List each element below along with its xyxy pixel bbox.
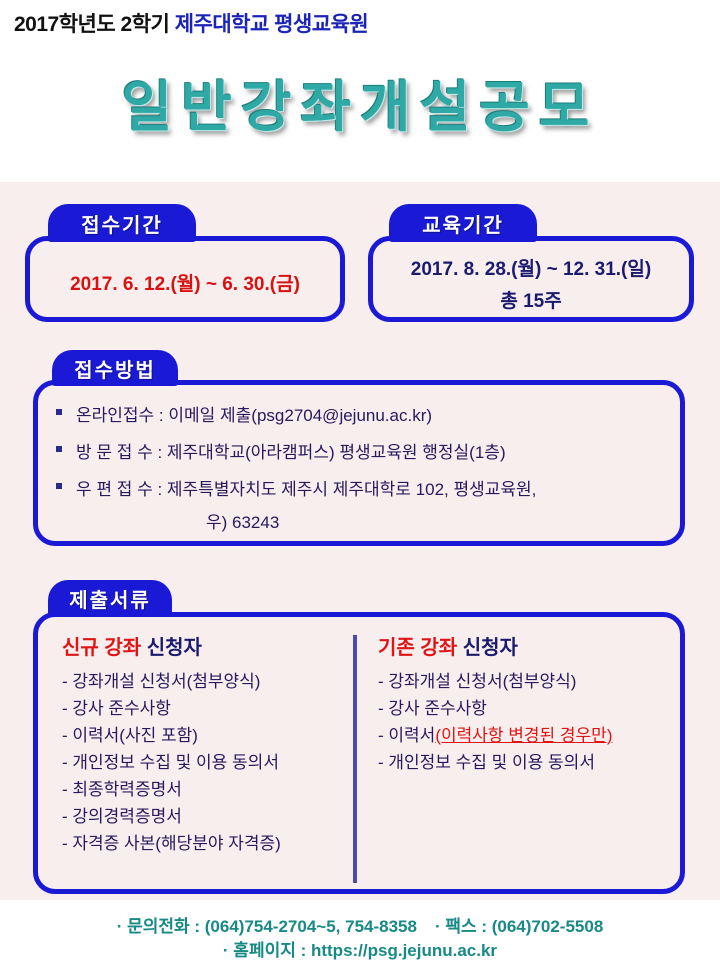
docs-heading-rest: 신청자	[457, 637, 518, 659]
list-item: 온라인접수 : 이메일 제출(psg2704@jejunu.ac.kr)	[56, 401, 536, 426]
header-line: 2017학년도 2학기 제주대학교 평생교육원	[14, 8, 368, 38]
panel-apply-period: 2017. 6. 12.(월) ~ 6. 30.(금)	[25, 236, 345, 322]
list-item: - 강의경력증명서	[62, 803, 352, 830]
tab-apply-period: 접수기간	[48, 204, 196, 242]
method-item-label: 온라인접수 : 이메일 제출(psg2704@jejunu.ac.kr)	[76, 401, 432, 426]
square-bullet-icon	[56, 409, 62, 415]
docs-column-new: 신규 강좌 신청자 - 강좌개설 신청서(첨부양식) - 강사 준수사항 - 이…	[62, 631, 352, 857]
poster-root: 2017학년도 2학기 제주대학교 평생교육원 일반강좌개설공모 접수기간 20…	[0, 0, 720, 960]
list-item: - 이력서(사진 포함)	[62, 722, 352, 749]
list-item: - 최종학력증명서	[62, 776, 352, 803]
list-item: 방 문 접 수 : 제주대학교(아라캠퍼스) 평생교육원 행정실(1층)	[56, 438, 536, 463]
square-bullet-icon	[56, 483, 62, 489]
list-item: - 강사 준수사항	[378, 695, 678, 722]
resume-condition-note: (이력사항 변경된 경우만)	[435, 726, 612, 745]
header-term: 2017학년도 2학기	[14, 13, 169, 36]
list-item: - 강사 준수사항	[62, 695, 352, 722]
tab-edu-period: 교육기간	[389, 204, 537, 242]
docs-list-existing: - 강좌개설 신청서(첨부양식) - 강사 준수사항 - 이력서(이력사항 변경…	[378, 668, 678, 776]
square-bullet-icon	[56, 446, 62, 452]
docs-column-existing: 기존 강좌 신청자 - 강좌개설 신청서(첨부양식) - 강사 준수사항 - 이…	[378, 631, 678, 776]
tab-application-method: 접수방법	[52, 350, 178, 386]
list-item-resume: - 이력서(이력사항 변경된 경우만)	[378, 722, 678, 749]
page-title: 일반강좌개설공모	[0, 62, 720, 142]
docs-heading-new: 신규 강좌 신청자	[62, 631, 352, 660]
panel-edu-period: 2017. 8. 28.(월) ~ 12. 31.(일) 총 15주	[368, 236, 694, 322]
edu-period-value: 2017. 8. 28.(월) ~ 12. 31.(일)	[373, 254, 689, 281]
tab-required-documents: 제출서류	[48, 580, 172, 617]
method-item-label: 방 문 접 수 : 제주대학교(아라캠퍼스) 평생교육원 행정실(1층)	[76, 438, 506, 463]
footer-contact-line: · 문의전화 : (064)754-2704~5, 754-8358· 팩스 :…	[0, 912, 720, 937]
list-item: - 강좌개설 신청서(첨부양식)	[378, 668, 678, 695]
method-item-label: 우 편 접 수 : 제주특별자치도 제주시 제주대학로 102, 평생교육원,	[76, 475, 536, 500]
list-item: - 자격증 사본(해당분야 자격증)	[62, 830, 352, 857]
header-institution: 제주대학교 평생교육원	[175, 13, 369, 36]
footer-fax: · 팩스 : (064)702-5508	[435, 917, 603, 936]
resume-label: - 이력서	[378, 726, 435, 745]
list-item: - 개인정보 수집 및 이용 동의서	[378, 749, 678, 776]
list-item: 우 편 접 수 : 제주특별자치도 제주시 제주대학로 102, 평생교육원,	[56, 475, 536, 500]
panel-required-documents: 신규 강좌 신청자 - 강좌개설 신청서(첨부양식) - 강사 준수사항 - 이…	[33, 612, 685, 894]
docs-heading-highlight: 신규 강좌	[62, 637, 141, 659]
edu-period-total: 총 15주	[373, 286, 689, 313]
list-item: - 강좌개설 신청서(첨부양식)	[62, 668, 352, 695]
docs-heading-rest: 신청자	[141, 637, 202, 659]
list-item: - 개인정보 수집 및 이용 동의서	[62, 749, 352, 776]
docs-heading-highlight: 기존 강좌	[378, 637, 457, 659]
column-divider	[353, 635, 357, 883]
panel-application-method: 온라인접수 : 이메일 제출(psg2704@jejunu.ac.kr) 방 문…	[33, 380, 685, 546]
application-method-list: 온라인접수 : 이메일 제출(psg2704@jejunu.ac.kr) 방 문…	[56, 401, 536, 533]
footer-homepage-line: · 홈페이지 : https://psg.jejunu.ac.kr	[0, 936, 720, 961]
docs-heading-existing: 기존 강좌 신청자	[378, 631, 678, 660]
docs-list-new: - 강좌개설 신청서(첨부양식) - 강사 준수사항 - 이력서(사진 포함) …	[62, 668, 352, 857]
apply-period-value: 2017. 6. 12.(월) ~ 6. 30.(금)	[30, 269, 340, 296]
footer-phone: · 문의전화 : (064)754-2704~5, 754-8358	[117, 917, 417, 936]
method-postal-code: 우) 63243	[206, 508, 536, 533]
